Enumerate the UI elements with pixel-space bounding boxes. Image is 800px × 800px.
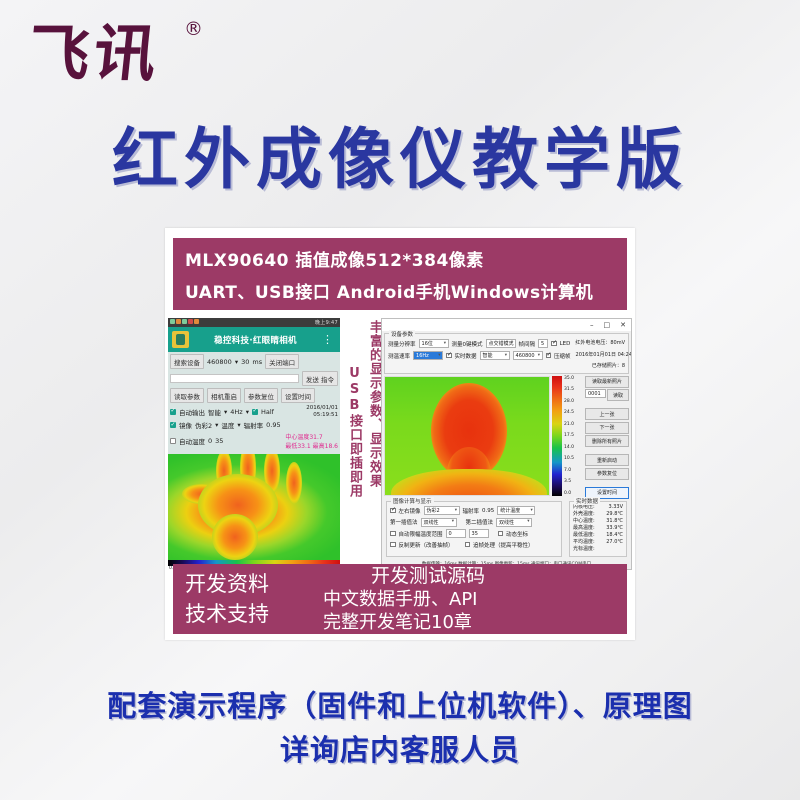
photo-index-row: 0001 读取 <box>585 389 629 401</box>
maximize-icon[interactable]: □ <box>604 321 611 329</box>
bottom-promo-text: 配套演示程序（固件和上位机软件）、原理图 详询店内客服人员 <box>0 684 800 772</box>
interval-unit-label: ms <box>252 358 262 366</box>
android-auto-output-row: 自动输出 智能 ▾ 4Hz ▾ Half 2016/01/01 05:19:51 <box>170 405 338 418</box>
chevron-down-icon[interactable]: ▾ <box>237 421 240 429</box>
brand-logo: 飞讯 ® <box>28 14 238 94</box>
stat-row: 中心温度: 31.8℃ <box>573 518 623 525</box>
chevron-down-icon[interactable]: ▾ <box>246 408 249 416</box>
smart-select[interactable]: 智能 <box>480 351 510 360</box>
read-button[interactable]: 读取 <box>607 389 629 401</box>
stat-row: 外壳温度: 29.8℃ <box>573 511 623 518</box>
first-interp-select[interactable]: 双线性 <box>421 518 457 527</box>
status-bar-time: 晚上9:47 <box>315 319 338 326</box>
measure-mode-label: 测量0键模式 <box>452 340 483 348</box>
delete-all-photos-button[interactable]: 删除所有照片 <box>585 435 629 447</box>
next-photo-button[interactable]: 下一张 <box>585 422 629 434</box>
pc-software-screenshot: – □ ✕ 设备参数 测量分辨率 16位 测量0键模式 点交错模式 帧间隔 5 … <box>381 318 632 570</box>
command-input[interactable] <box>170 374 299 383</box>
android-autotemp-row: 自动温度 0 35 中心温度31.7 最低33.1 最高18.6 <box>170 432 338 450</box>
pc-colorbar <box>552 376 562 496</box>
camera-app-icon <box>172 331 189 348</box>
tick: 0.0 <box>564 491 581 496</box>
mirror-lr-checkbox[interactable] <box>390 508 396 514</box>
stat-row: 最高温度: 33.9℃ <box>573 525 623 532</box>
device-params-row-2: 测温速率 16Hz 实时数据 智能 460800 压缩帧 2016年01月01日… <box>388 351 625 360</box>
resolution-select[interactable]: 16位 <box>419 339 449 348</box>
vertical-text-line-2: USB接口即插即用 <box>345 366 364 498</box>
interval-value[interactable]: 30 <box>241 358 249 366</box>
image-calc-group-title: 图像计算与显示 <box>391 497 434 505</box>
half-label: Half <box>261 408 274 416</box>
stat-value: 33.9℃ <box>606 525 623 532</box>
calc-row-1: 左右镜像 伪彩2 辐射率 0.95 统计温度 <box>390 506 558 515</box>
frame-interval-input[interactable]: 5 <box>538 339 548 348</box>
stat-label: 最高温度: <box>573 525 595 532</box>
spec-banner: MLX90640 插值成像512*384像素 UART、USB接口 Androi… <box>173 238 627 310</box>
stat-label: 平均温度: <box>573 539 595 546</box>
realtime-checkbox[interactable] <box>446 353 452 359</box>
half-checkbox[interactable] <box>252 409 258 415</box>
product-screenshot-card: MLX90640 插值成像512*384像素 UART、USB接口 Androi… <box>165 228 635 640</box>
range-min-input[interactable]: 0 <box>446 529 466 538</box>
led-label: LED <box>560 341 571 347</box>
second-interp-select[interactable]: 双线性 <box>496 518 532 527</box>
auto-output-label: 自动输出 <box>179 407 205 417</box>
auto-temp-label: 自动温度 <box>179 436 205 446</box>
tick: 10.5 <box>564 456 581 461</box>
bottom-promo-line-1: 配套演示程序（固件和上位机软件）、原理图 <box>0 684 800 728</box>
read-latest-photo-button[interactable]: 读取最新照片 <box>585 376 629 388</box>
compress-label: 压缩帧 <box>554 352 571 360</box>
stat-label: 最低温度: <box>573 532 595 539</box>
vertical-feature-text: 丰富的显示参数、显示效果 USB接口即插即用 <box>343 318 385 570</box>
pc-photo-controls: 读取最新照片 0001 读取 上一张 下一张 删除所有照片 重新启动 参数复位 … <box>583 376 629 499</box>
stat-label: 光标温度: <box>573 546 595 553</box>
reset-params-button[interactable]: 参数复位 <box>585 468 629 480</box>
android-app-title: 稳控科技·红眼睛相机 <box>189 334 322 346</box>
tick: 7.0 <box>564 468 581 473</box>
android-action-buttons: 读取参数 相机重启 参数复位 设置时间 <box>170 388 338 403</box>
mirror-checkbox[interactable] <box>170 422 176 428</box>
rate-select[interactable]: 16Hz <box>413 351 443 360</box>
pc-colorbar-ticks: 35.0 31.5 28.0 24.5 21.0 17.5 14.0 10.5 … <box>564 376 581 496</box>
baudrate-value[interactable]: 460800 <box>207 358 232 366</box>
temp-max-value[interactable]: 35 <box>215 437 223 445</box>
chevron-down-icon[interactable]: ▾ <box>224 408 227 416</box>
chevron-down-icon[interactable]: ▾ <box>235 358 238 366</box>
stat-value: 3.33V <box>608 504 623 511</box>
android-app-body: 搜索设备 460800 ▾ 30 ms 关闭端口 发送 指令 读取参数 相机重启… <box>168 352 340 454</box>
emissivity-label: 辐射率 <box>244 420 264 430</box>
center-temperature: 中心温度31.7 <box>285 434 322 441</box>
auto-temp-checkbox[interactable] <box>170 438 176 444</box>
palette-select[interactable]: 伪彩2 <box>195 420 212 430</box>
device-datetime: 2016/01/01 05:19:51 <box>306 405 338 418</box>
device-params-group-title: 设备参数 <box>389 330 415 338</box>
spec-banner-line-1: MLX90640 插值成像512*384像素 <box>185 245 627 277</box>
registered-trademark-icon: ® <box>184 18 203 40</box>
search-device-button[interactable]: 搜索设备 <box>170 354 204 369</box>
second-interp-label: 第二插值法 <box>466 518 494 526</box>
mirror-label: 镜像 <box>179 420 192 430</box>
android-command-row: 发送 指令 <box>170 371 338 386</box>
device-time: 05:19:51 <box>313 412 338 418</box>
logo-text: 飞讯 <box>24 14 242 94</box>
android-app-screenshot: 晚上9:47 稳控科技·红眼睛相机 ⋮ 搜索设备 460800 ▾ 30 ms … <box>168 318 340 570</box>
mirror-lr-label: 左右镜像 <box>399 507 421 515</box>
photo-count: 已存储照片：8 <box>592 363 625 370</box>
thermal-person-image <box>384 376 550 496</box>
photo-index-input[interactable]: 0001 <box>585 389 606 398</box>
calc-row-3: 自动限幅温度范围 0 35 动态坐标 <box>390 529 558 538</box>
close-port-button[interactable]: 关闭端口 <box>265 354 299 369</box>
palette-select[interactable]: 伪彩2 <box>424 506 460 515</box>
read-params-button[interactable]: 读取参数 <box>170 388 204 403</box>
thermal-shoulders-blob <box>391 469 547 496</box>
realtime-label: 实时数据 <box>455 352 477 360</box>
page-title: 红外成像仪教学版 <box>0 112 800 208</box>
reflect-temp-select[interactable]: 统计温度 <box>497 506 535 515</box>
post-process-checkbox[interactable] <box>465 542 471 548</box>
pc-bottom-area: 图像计算与显示 左右镜像 伪彩2 辐射率 0.95 统计温度 第一插值法 双线性… <box>382 499 631 559</box>
baudrate-select[interactable]: 460800 <box>513 351 543 360</box>
prev-photo-button[interactable]: 上一张 <box>585 408 629 420</box>
smart-select[interactable]: 智能 <box>208 407 221 417</box>
measure-mode-select[interactable]: 点交错模式 <box>486 339 516 348</box>
restart-button[interactable]: 重新启动 <box>585 454 629 466</box>
status-bar-icons <box>170 319 200 326</box>
window-titlebar: – □ ✕ <box>382 319 631 331</box>
overflow-menu-icon[interactable]: ⋮ <box>322 335 336 344</box>
support-right-line-2: 中文数据手册、API <box>323 588 627 611</box>
image-calc-group: 图像计算与显示 左右镜像 伪彩2 辐射率 0.95 统计温度 第一插值法 双线性… <box>386 501 562 557</box>
set-time-button[interactable]: 设置时间 <box>281 388 315 403</box>
emissivity-label: 辐射率 <box>463 507 480 515</box>
device-params-row-1: 测量分辨率 16位 测量0键模式 点交错模式 帧间隔 5 LED 红外电池电压：… <box>388 339 625 348</box>
calc-row-2: 第一插值法 双线性 第二插值法 双线性 <box>390 518 558 527</box>
temp-min-value[interactable]: 0 <box>208 437 212 445</box>
support-band: 开发资料 技术支持 开发测试源码 中文数据手册、API 完整开发笔记10章 <box>173 564 627 634</box>
calc-row-4: 反制更新（改善抽帧） 追帧处理（提高平稳性） <box>390 541 558 549</box>
device-time: 2016年01月01日 04:24:25 <box>576 352 632 359</box>
support-right-line-3: 完整开发笔记10章 <box>323 611 627 634</box>
first-interp-label: 第一插值法 <box>390 518 418 526</box>
device-params-group: 设备参数 测量分辨率 16位 测量0键模式 点交错模式 帧间隔 5 LED 红外… <box>384 333 629 374</box>
support-left: 开发资料 技术支持 <box>173 569 323 629</box>
tick: 3.5 <box>564 479 581 484</box>
post-process-label: 追帧处理（提高平稳性） <box>473 541 534 549</box>
battery-info: 红外电池电压：80mV <box>575 340 625 347</box>
support-right-line-1: 开发测试源码 <box>323 565 627 588</box>
tick: 21.0 <box>564 422 581 427</box>
minimize-icon[interactable]: – <box>590 321 594 329</box>
bottom-promo-line-2: 详询店内客服人员 <box>0 728 800 772</box>
emissivity-value[interactable]: 0.95 <box>482 508 494 514</box>
reset-params-button[interactable]: 参数复位 <box>244 388 278 403</box>
stat-value: 29.8℃ <box>606 511 623 518</box>
tick: 24.5 <box>564 410 581 415</box>
resolution-label: 测量分辨率 <box>388 340 416 348</box>
close-icon[interactable]: ✕ <box>620 321 626 329</box>
tick: 31.5 <box>564 387 581 392</box>
emissivity-value[interactable]: 0.95 <box>266 421 280 429</box>
stat-row: 光标温度: <box>573 546 623 553</box>
dyn-cursor-label: 动态坐标 <box>506 530 528 538</box>
android-status-bar: 晚上9:47 <box>168 318 340 327</box>
temp-mode-select[interactable]: 温度 <box>221 420 234 430</box>
support-left-line-2: 技术支持 <box>185 599 323 629</box>
realtime-stats-group-title: 实时数据 <box>574 497 600 505</box>
tick: 28.0 <box>564 399 581 404</box>
auto-range-checkbox[interactable] <box>390 531 396 537</box>
camera-restart-button[interactable]: 相机重启 <box>207 388 241 403</box>
dyn-cursor-checkbox[interactable] <box>498 531 504 537</box>
rate-select[interactable]: 4Hz <box>230 408 242 416</box>
temperature-readout: 中心温度31.7 最低33.1 最高18.6 <box>285 432 338 450</box>
device-date: 2016/01/01 <box>306 405 338 411</box>
min-max-temperature: 最低33.1 最高18.6 <box>285 443 338 450</box>
android-mirror-row: 镜像 伪彩2 ▾ 温度 ▾ 辐射率 0.95 <box>170 420 338 430</box>
stat-row: 最低温度: 18.4℃ <box>573 532 623 539</box>
frame-interval-label: 帧间隔 <box>519 340 536 348</box>
realtime-stats-group: 实时数据 内核电压: 3.33V 外壳温度: 29.8℃ 中心温度: 31.8℃… <box>569 501 627 557</box>
tick: 14.0 <box>564 445 581 450</box>
stat-value: 18.4℃ <box>606 532 623 539</box>
auto-output-checkbox[interactable] <box>170 409 176 415</box>
tick: 17.5 <box>564 433 581 438</box>
stat-label: 中心温度: <box>573 518 595 525</box>
stat-value: 27.0℃ <box>606 539 623 546</box>
tick: 35.0 <box>564 376 581 381</box>
range-max-input[interactable]: 35 <box>469 529 489 538</box>
device-params-row-3: 已存储照片：8 <box>388 363 625 370</box>
android-connection-row: 搜索设备 460800 ▾ 30 ms 关闭端口 <box>170 354 338 369</box>
spec-banner-line-2: UART、USB接口 Android手机Windows计算机 <box>185 277 627 309</box>
force-refresh-checkbox[interactable] <box>390 542 396 548</box>
android-app-bar: 稳控科技·红眼睛相机 ⋮ <box>168 327 340 352</box>
led-checkbox[interactable] <box>551 341 557 347</box>
stat-label: 外壳温度: <box>573 511 595 518</box>
force-refresh-label: 反制更新（改善抽帧） <box>399 541 454 549</box>
send-command-button[interactable]: 发送 指令 <box>302 371 338 386</box>
chevron-down-icon[interactable]: ▾ <box>215 421 218 429</box>
pc-image-area: 35.0 31.5 28.0 24.5 21.0 17.5 14.0 10.5 … <box>382 376 631 499</box>
stat-row: 平均温度: 27.0℃ <box>573 539 623 546</box>
support-left-line-1: 开发资料 <box>185 569 323 599</box>
rate-label: 测温速率 <box>388 352 410 360</box>
thermal-hand-image <box>168 454 340 560</box>
support-right: 开发测试源码 中文数据手册、API 完整开发笔记10章 <box>323 565 627 634</box>
compress-checkbox[interactable] <box>546 353 552 359</box>
stat-value: 31.8℃ <box>606 518 623 525</box>
auto-range-label: 自动限幅温度范围 <box>399 530 443 538</box>
